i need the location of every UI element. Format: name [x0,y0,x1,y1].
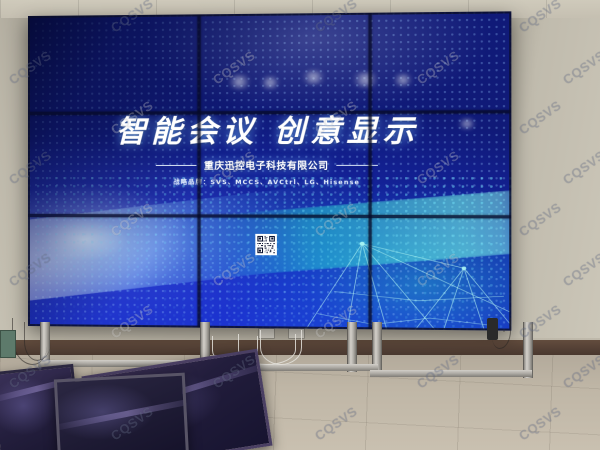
right-wall [498,18,600,338]
screen-company-name: 重庆迅控电子科技有限公司 [204,158,329,172]
qr-code [255,234,277,255]
screen-company-row: 重庆迅控电子科技有限公司 [28,158,511,172]
rule-right [336,165,378,166]
screen-brand-line: 战略品牌：SVS、MCCS、AVCtrl、LG、Hisense [28,177,511,186]
video-wall[interactable]: 智能会议 创意显示 重庆迅控电子科技有限公司 战略品牌：SVS、MCCS、AVC… [28,11,511,330]
wall-socket [288,328,305,339]
rule-left [156,165,197,166]
photo-canvas: 智能会议 创意显示 重庆迅控电子科技有限公司 战略品牌：SVS、MCCS、AVC… [0,0,600,450]
screen-headline: 智能会议 创意显示 [28,117,511,149]
wall-socket [258,328,275,339]
screen-text-block: 智能会议 创意显示 重庆迅控电子科技有限公司 战略品牌：SVS、MCCS、AVC… [28,117,511,187]
monitor-middle[interactable] [54,373,189,450]
